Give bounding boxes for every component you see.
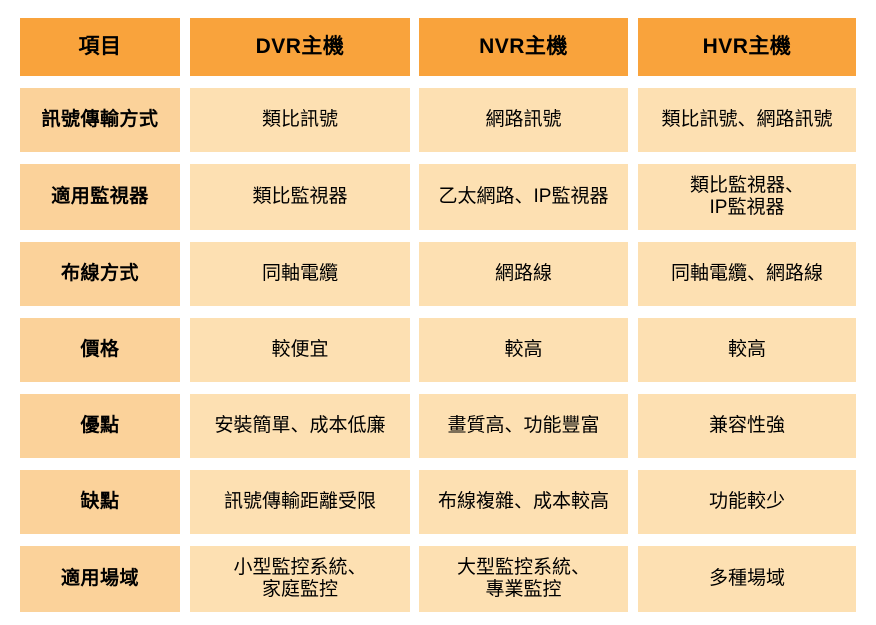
cell-dvr-price: 較便宜: [190, 318, 410, 382]
column-header-nvr: NVR主機: [419, 18, 628, 76]
cell-hvr-price: 較高: [638, 318, 856, 382]
cell-hvr-advantages: 兼容性強: [638, 394, 856, 458]
cell-nvr-use-case: 大型監控系統、 專業監控: [419, 546, 628, 612]
table-row: 適用場域 小型監控系統、 家庭監控 大型監控系統、 專業監控 多種場域: [20, 546, 856, 612]
cell-hvr-signal-transmission: 類比訊號、網路訊號: [638, 88, 856, 152]
cell-hvr-use-case: 多種場域: [638, 546, 856, 612]
row-label-disadvantages: 缺點: [20, 470, 180, 534]
column-header-hvr: HVR主機: [638, 18, 856, 76]
cell-nvr-advantages: 畫質高、功能豐富: [419, 394, 628, 458]
cell-dvr-use-case: 小型監控系統、 家庭監控: [190, 546, 410, 612]
cell-hvr-compatible-monitor: 類比監視器、 IP監視器: [638, 164, 856, 230]
cell-dvr-advantages: 安裝簡單、成本低廉: [190, 394, 410, 458]
column-header-dvr: DVR主機: [190, 18, 410, 76]
table-row: 缺點 訊號傳輸距離受限 布線複雜、成本較高 功能較少: [20, 470, 856, 534]
comparison-table: 項目 DVR主機 NVR主機 HVR主機 訊號傳輸方式 類比訊號 網路訊號 類比…: [20, 18, 856, 612]
column-header-item: 項目: [20, 18, 180, 76]
table-row: 適用監視器 類比監視器 乙太網路、IP監視器 類比監視器、 IP監視器: [20, 164, 856, 230]
row-label-advantages: 優點: [20, 394, 180, 458]
table-row: 優點 安裝簡單、成本低廉 畫質高、功能豐富 兼容性強: [20, 394, 856, 458]
cell-hvr-disadvantages: 功能較少: [638, 470, 856, 534]
cell-dvr-cabling: 同軸電纜: [190, 242, 410, 306]
row-label-compatible-monitor: 適用監視器: [20, 164, 180, 230]
cell-nvr-signal-transmission: 網路訊號: [419, 88, 628, 152]
table-row: 價格 較便宜 較高 較高: [20, 318, 856, 382]
cell-dvr-disadvantages: 訊號傳輸距離受限: [190, 470, 410, 534]
table-header-row: 項目 DVR主機 NVR主機 HVR主機: [20, 18, 856, 76]
row-label-cabling: 布線方式: [20, 242, 180, 306]
cell-nvr-disadvantages: 布線複雜、成本較高: [419, 470, 628, 534]
cell-nvr-compatible-monitor: 乙太網路、IP監視器: [419, 164, 628, 230]
table-row: 訊號傳輸方式 類比訊號 網路訊號 類比訊號、網路訊號: [20, 88, 856, 152]
cell-nvr-cabling: 網路線: [419, 242, 628, 306]
cell-dvr-signal-transmission: 類比訊號: [190, 88, 410, 152]
cell-hvr-cabling: 同軸電纜、網路線: [638, 242, 856, 306]
table-row: 布線方式 同軸電纜 網路線 同軸電纜、網路線: [20, 242, 856, 306]
cell-nvr-price: 較高: [419, 318, 628, 382]
cell-dvr-compatible-monitor: 類比監視器: [190, 164, 410, 230]
row-label-use-case: 適用場域: [20, 546, 180, 612]
row-label-signal-transmission: 訊號傳輸方式: [20, 88, 180, 152]
row-label-price: 價格: [20, 318, 180, 382]
